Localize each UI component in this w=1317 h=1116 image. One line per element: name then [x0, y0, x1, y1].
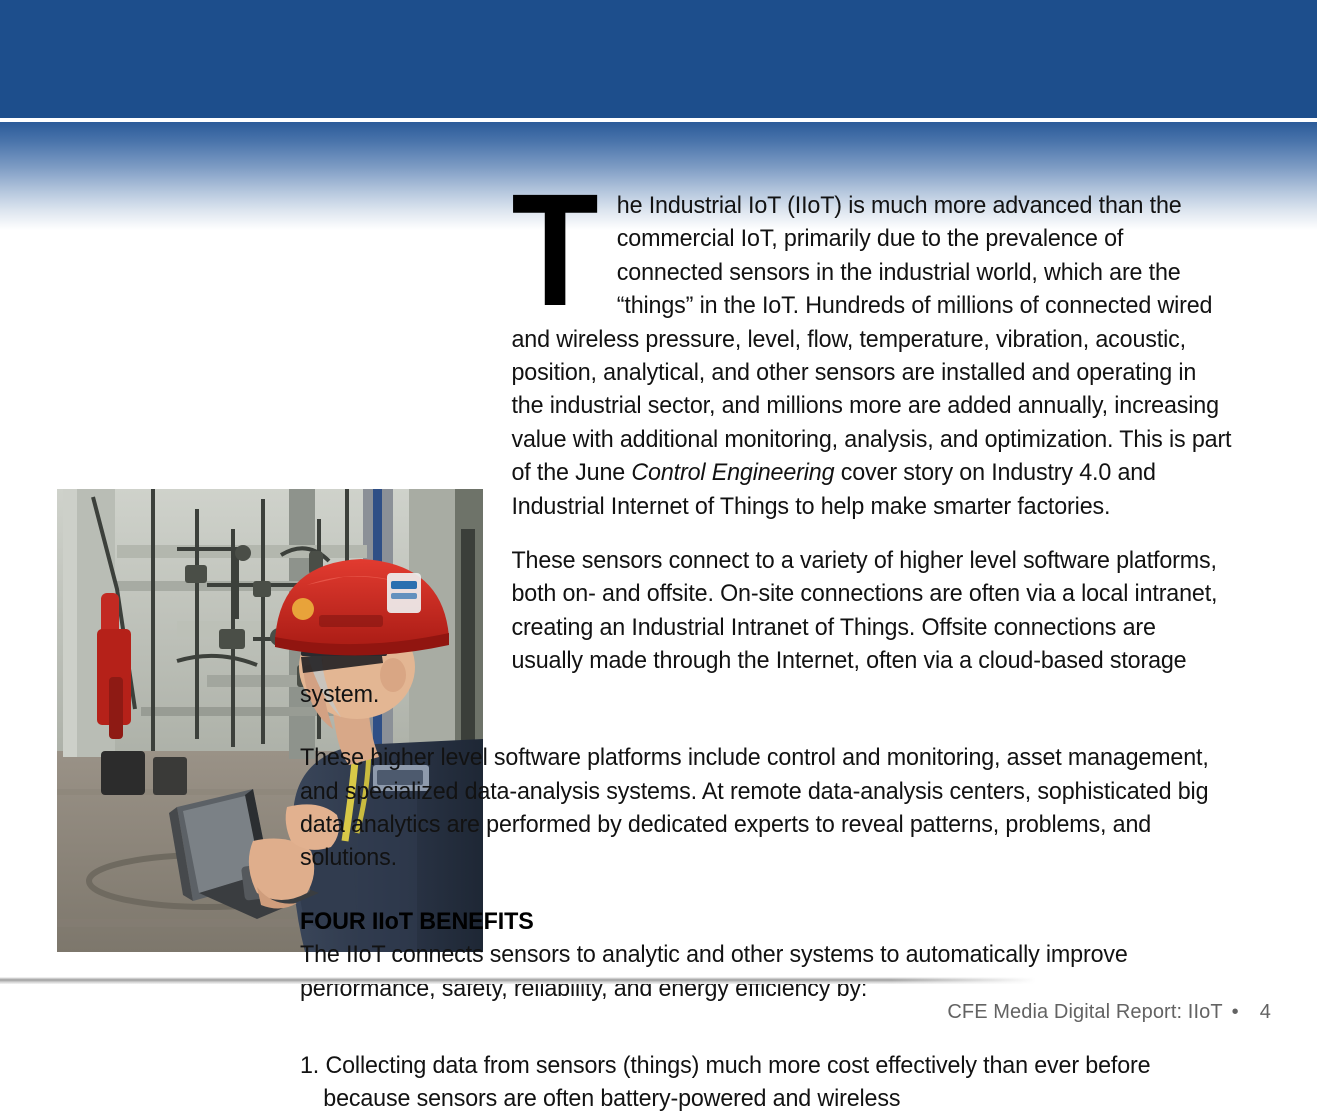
page-number: 4: [1248, 1001, 1271, 1023]
footer-divider-rule: [0, 975, 1036, 984]
paragraph-gap: [300, 875, 1262, 905]
lead-paragraph: The Industrial IoT (IIoT) is much more a…: [300, 189, 1233, 523]
lead-paragraph-text-1: he Industrial IoT (IIoT) is much more ad…: [511, 192, 1231, 486]
footer-publication-label: CFE Media Digital Report: IIoT: [947, 1001, 1222, 1023]
footer-separator-bullet: •: [1223, 1001, 1248, 1023]
page-header-band: INDUSTRIAL INTERNET OF THINGS (IIoT) BEN…: [0, 0, 1317, 118]
paragraph-higher-level-platforms: These higher level software platforms in…: [300, 741, 1233, 875]
section-heading-four-iiot-benefits: FOUR IIoT BENEFITS: [300, 905, 1233, 938]
paragraph-gap: [300, 711, 1262, 741]
paragraph-sensors-platforms: These sensors connect to a variety of hi…: [300, 544, 1233, 711]
page-title: INDUSTRIAL INTERNET OF THINGS (IIoT) BEN…: [58, 14, 1214, 118]
drop-cap-letter: T: [511, 191, 598, 309]
publication-name-italic: Control Engineering: [631, 459, 834, 486]
list-item: 1. Collecting data from sensors (things)…: [300, 1049, 1233, 1116]
footer: CFE Media Digital Report: IIoT•4: [936, 978, 1271, 1024]
